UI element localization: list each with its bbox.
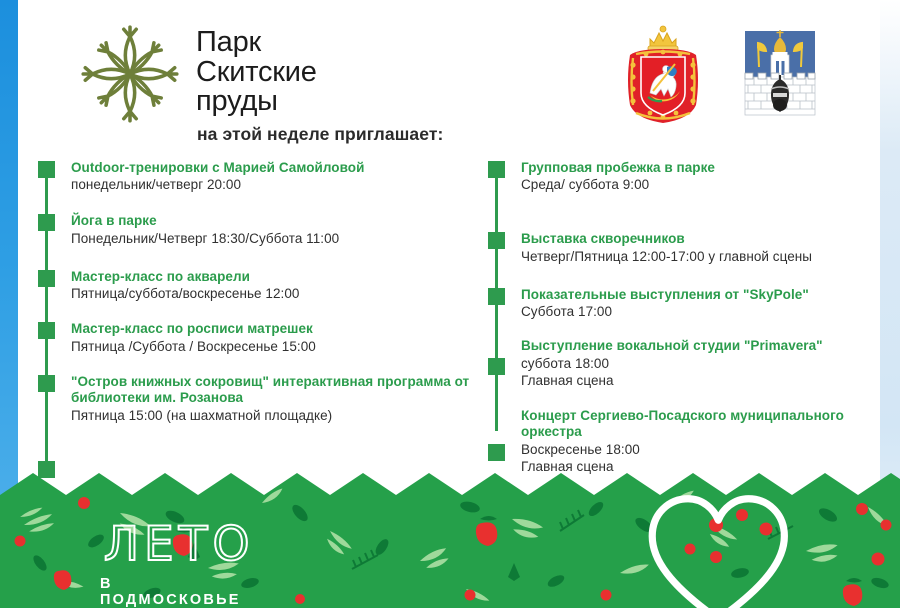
bullet-square-icon [38,322,55,339]
summer-brand-lockup: ЛЕТО В ПОДМОСКОВЬЕ [100,501,900,608]
schedule-item-detail: Пятница 15:00 (на шахматной площадке) [71,407,478,424]
poster-header: Парк Скитские пруды на этой неделе пригл… [0,0,900,155]
poster-root: Парк Скитские пруды на этой неделе пригл… [0,0,900,608]
schedule-item-detail: Среда/ суббота 9:00 [521,176,888,193]
moscow-oblast-coat-of-arms [620,21,706,127]
bullet-square-icon [38,161,55,178]
schedule-item-title: Outdoor-тренировки с Марией Самойловой [71,160,478,176]
schedule-item-detail: Пятница /Суббота / Воскресенье 15:00 [71,338,478,355]
schedule-column-right: Групповая пробежка в парке Среда/ суббот… [488,160,888,475]
bullet-square-icon [488,358,505,375]
schedule-item-title: Показательные выступления от "SkyPole" [521,287,888,303]
brand-logo-block: Парк Скитские пруды [78,22,317,126]
schedule-item[interactable]: "Остров книжных сокровищ" интерактивная … [38,374,478,424]
schedule-item[interactable]: Выставка скворечников Четверг/Пятница 12… [488,231,888,264]
schedule-item[interactable]: Йога в парке Понедельник/Четверг 18:30/С… [38,213,478,246]
header-tagline: на этой неделе приглашает: [197,124,443,145]
schedule-column-left: Outdoor-тренировки с Марией Самойловой п… [38,160,478,424]
leto-subtitle: В ПОДМОСКОВЬЕ [100,576,258,608]
leto-text-block: ЛЕТО В ПОДМОСКОВЬЕ [100,521,258,608]
schedule-item-detail: Воскресенье 18:00 [521,441,888,458]
bullet-square-icon [38,375,55,392]
schedule-item-title: Мастер-класс по росписи матрешек [71,321,478,337]
bullet-square-icon [488,288,505,305]
schedule-item[interactable]: Мастер-класс по росписи матрешек Пятница… [38,321,478,354]
schedule-item-title: Мастер-класс по акварели [71,269,478,285]
schedule-item-title: Выступление вокальной студии "Primavera" [521,338,888,354]
schedule-item[interactable]: Outdoor-тренировки с Марией Самойловой п… [38,160,478,193]
schedule-item-title: Выставка скворечников [521,231,888,247]
schedule-item[interactable]: Групповая пробежка в парке Среда/ суббот… [488,160,888,193]
heart-outline-icon [272,493,900,608]
schedule-item-detail: Понедельник/Четверг 18:30/Суббота 11:00 [71,230,478,247]
bullet-square-icon [38,214,55,231]
sergiev-posad-coat-of-arms [742,21,818,125]
schedule-item[interactable]: Выступление вокальной студии "Primavera"… [488,338,888,388]
snowflake-flower-icon [78,22,182,126]
schedule-item-detail: Четверг/Пятница 12:00-17:00 у главной сц… [521,248,888,265]
schedule-item-title: Йога в парке [71,213,478,229]
schedule-section: Outdoor-тренировки с Марией Самойловой п… [0,160,900,480]
bullet-square-icon [488,444,505,461]
schedule-item[interactable]: Показательные выступления от "SkyPole" С… [488,287,888,320]
brand-name-line-3: пруды [196,87,317,117]
crests-group [620,21,818,127]
bullet-square-icon [38,270,55,287]
brand-name-line-2: Скитские [196,58,317,88]
schedule-item-location: Главная сцена [521,372,888,389]
brand-name-line-1: Парк [196,28,317,58]
schedule-item-detail: суббота 18:00 [521,355,888,372]
bullet-square-icon [488,161,505,178]
brand-name: Парк Скитские пруды [196,22,317,117]
schedule-item[interactable]: Концерт Сергиево-Посадского муниципально… [488,408,888,475]
schedule-item-detail: понедельник/четверг 20:00 [71,176,478,193]
schedule-item[interactable]: Мастер-класс по акварели Пятница/суббота… [38,269,478,302]
schedule-item-title: Концерт Сергиево-Посадского муниципально… [521,408,888,441]
schedule-item-detail: Суббота 17:00 [521,303,888,320]
summer-banner: ЛЕТО В ПОДМОСКОВЬЕ [0,473,900,608]
schedule-item-title: Групповая пробежка в парке [521,160,888,176]
bullet-square-icon [488,232,505,249]
schedule-item-detail: Пятница/суббота/воскресенье 12:00 [71,285,478,302]
leto-wordmark: ЛЕТО [104,521,255,568]
schedule-item-title: "Остров книжных сокровищ" интерактивная … [71,374,478,407]
